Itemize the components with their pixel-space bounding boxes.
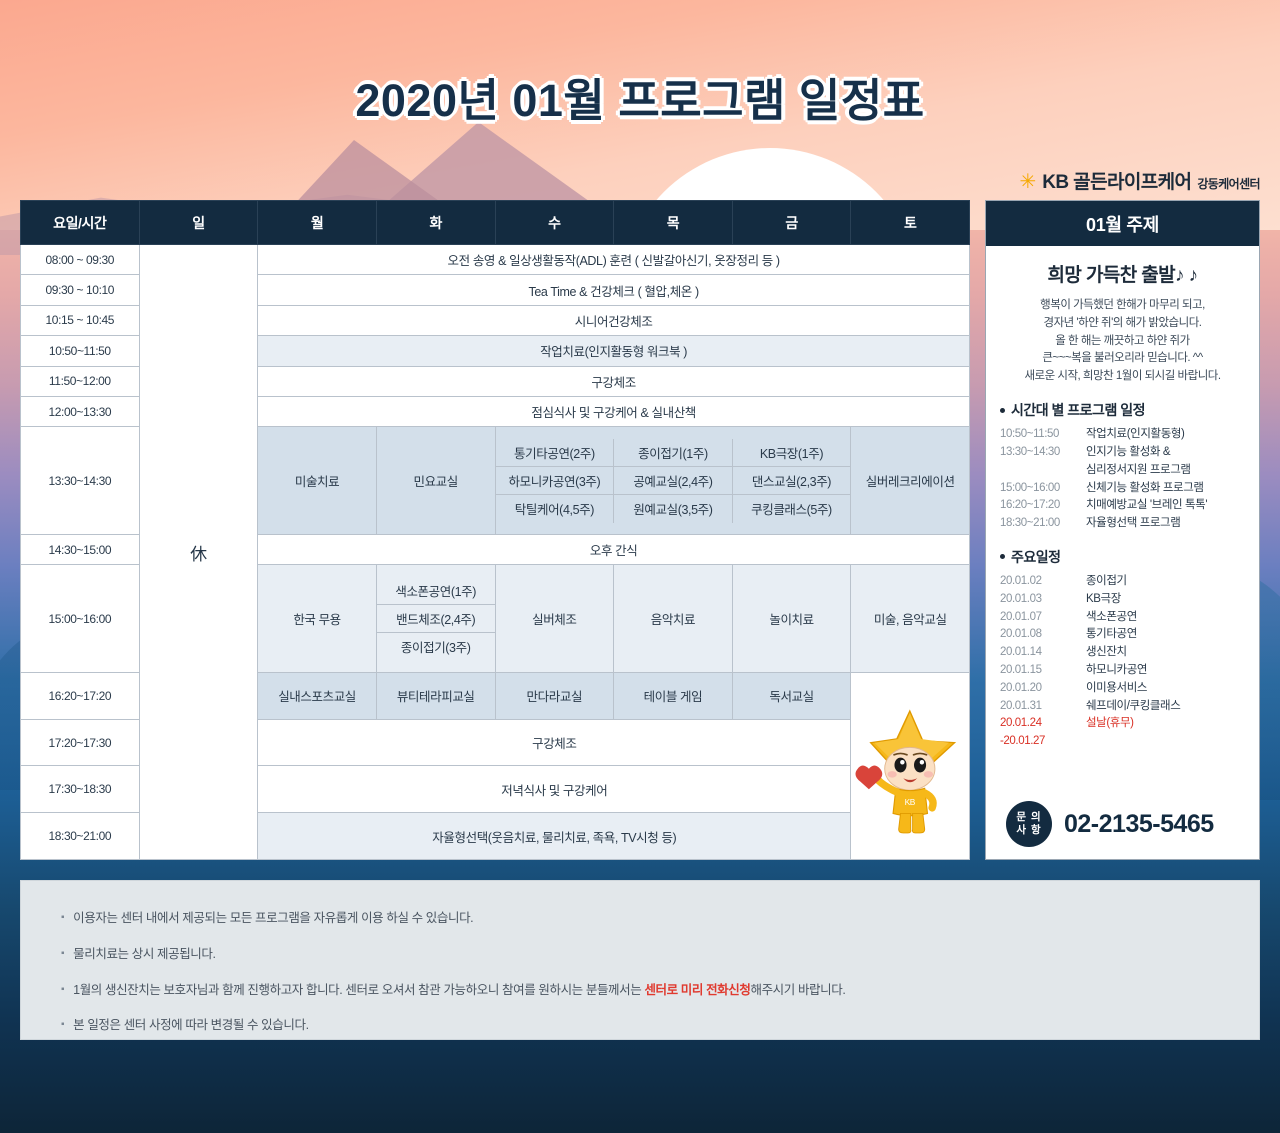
page-title: 2020년 01월 프로그램 일정표 xyxy=(0,64,1280,129)
theme-line: 경자년 '하얀 쥐'의 해가 밝았습니다. xyxy=(1000,315,1245,333)
event-date: 20.01.07 xyxy=(1000,609,1086,627)
program-cell: 만다라교실 xyxy=(495,673,614,720)
program-cell: 댄스교실(2,3주) xyxy=(732,467,850,495)
bullet-icon xyxy=(1000,408,1005,413)
rest-cell: 休 xyxy=(139,245,258,860)
note-item: ▪ 물리치료는 상시 제공됩니다. xyxy=(61,945,1219,964)
program-label: 자율형선택 프로그램 xyxy=(1086,515,1180,533)
subgrid-row: 밴드체조(2,4주) xyxy=(377,605,495,633)
note-highlight: 센터로 미리 전화신청 xyxy=(644,983,750,997)
time-label: 12:00~13:30 xyxy=(21,396,140,426)
list-item-holiday: -20.01.27 xyxy=(1000,733,1245,751)
theme-line: 새로운 시작, 희망찬 1월이 되시길 바랍니다. xyxy=(1000,368,1245,386)
program-cell: 공예교실(2,4주) xyxy=(614,467,732,495)
event-name: 이미용서비스 xyxy=(1086,680,1147,698)
program-cell: 탁틸케어(4,5주) xyxy=(496,495,614,523)
time-label: 18:30~21:00 xyxy=(21,813,140,860)
program-cell-sat: 미술, 음악교실 xyxy=(851,565,970,673)
program-cell: 색소폰공연(1주) xyxy=(377,577,495,605)
brand-name: KB 골든라이프케어 xyxy=(1042,167,1191,194)
section-title-label: 주요일정 xyxy=(1011,547,1061,567)
table-header: 요일/시간 일 월 화 수 목 금 토 xyxy=(21,201,970,245)
list-item: 20.01.08 통기타공연 xyxy=(1000,626,1245,644)
event-name: 종이접기 xyxy=(1086,573,1127,591)
time-label: 16:20~17:20 xyxy=(21,673,140,720)
section-title-time: 시간대 별 프로그램 일정 xyxy=(1000,400,1245,420)
program-cell-wed: 실버체조 xyxy=(495,565,614,673)
monthly-theme-sidebar: 01월 주제 희망 가득찬 출발♪ ♪ 행복이 가득했던 한해가 마무리 되고,… xyxy=(985,200,1260,860)
program-cell: 저녁식사 및 구강케어 xyxy=(258,766,851,813)
list-item: 20.01.15 하모니카공연 xyxy=(1000,662,1245,680)
event-name: 통기타공연 xyxy=(1086,626,1137,644)
program-cell: 종이접기(1주) xyxy=(614,439,732,467)
time-label: 08:00 ~ 09:30 xyxy=(21,245,140,275)
program-cell: 구강체조 xyxy=(258,719,851,766)
time-label: 09:30 ~ 10:10 xyxy=(21,275,140,305)
program-cell: 점심식사 및 구강케어 & 실내산책 xyxy=(258,396,970,426)
bullet-icon xyxy=(1000,554,1005,559)
note-item: ▪ 이용자는 센터 내에서 제공되는 모든 프로그램을 자유롭게 이용 하실 수… xyxy=(61,909,1219,928)
theme-line: 행복이 가득했던 한해가 마무리 되고, xyxy=(1000,297,1245,315)
header-sat: 토 xyxy=(851,201,970,245)
time-label: 17:30~18:30 xyxy=(21,766,140,813)
program-label: 작업치료(인지활동형) xyxy=(1086,426,1184,444)
sidebar-body: 희망 가득찬 출발♪ ♪ 행복이 가득했던 한해가 마무리 되고, 경자년 '하… xyxy=(986,246,1259,859)
bullet-icon: ▪ xyxy=(61,1016,64,1035)
program-cell: 원예교실(3,5주) xyxy=(614,495,732,523)
time-label: 17:20~17:30 xyxy=(21,719,140,766)
header-thu: 목 xyxy=(614,201,733,245)
program-cell: 뷰티테라피교실 xyxy=(376,673,495,720)
program-label: 심리정서지원 프로그램 xyxy=(1086,462,1191,480)
time-label: 13:30~14:30 xyxy=(1000,444,1086,462)
program-cell: 오전 송영 & 일상생활동작(ADL) 훈련 ( 신발갈아신기, 옷장정리 등 … xyxy=(258,245,970,275)
list-item: 20.01.02 종이접기 xyxy=(1000,573,1245,591)
list-item: 20.01.07 색소폰공연 xyxy=(1000,609,1245,627)
program-cell: 밴드체조(2,4주) xyxy=(377,605,495,633)
note-item: ▪ 1월의 생신잔치는 보호자님과 함께 진행하고자 합니다. 센터로 오셔서 … xyxy=(61,981,1219,1000)
mascot-svg: KB xyxy=(854,675,966,857)
list-item: 15:00~16:00 신체기능 활성화 프로그램 xyxy=(1000,480,1245,498)
program-cell-tue: 민요교실 xyxy=(376,427,495,535)
subgrid-row: 통기타공연(2주) 종이접기(1주) KB극장(1주) xyxy=(496,439,851,467)
subgrid-row: 색소폰공연(1주) xyxy=(377,577,495,605)
list-item: 18:30~21:00 자율형선택 프로그램 xyxy=(1000,515,1245,533)
program-cell: KB극장(1주) xyxy=(732,439,850,467)
event-date: -20.01.27 xyxy=(1000,733,1086,751)
program-cell: 통기타공연(2주) xyxy=(496,439,614,467)
list-item-holiday: 20.01.24 설날(휴무) xyxy=(1000,715,1245,733)
inquiry-badge: 문 의 사 항 xyxy=(1006,801,1052,847)
list-item: 20.01.14 생신잔치 xyxy=(1000,644,1245,662)
footer-notes: ▪ 이용자는 센터 내에서 제공되는 모든 프로그램을 자유롭게 이용 하실 수… xyxy=(20,880,1260,1040)
note-item: ▪ 본 일정은 센터 사정에 따라 변경될 수 있습니다. xyxy=(61,1016,1219,1035)
list-item: 20.01.03 KB극장 xyxy=(1000,591,1245,609)
subgrid-table: 색소폰공연(1주) 밴드체조(2,4주) 종이접기(3주) xyxy=(377,577,495,661)
inquiry-badge-line1: 문 의 xyxy=(1016,811,1041,824)
event-name: 설날(휴무) xyxy=(1086,715,1134,733)
kb-star-mascot-icon: KB xyxy=(854,675,966,857)
time-label xyxy=(1000,462,1086,480)
program-cell-mon: 미술치료 xyxy=(258,427,377,535)
contact-block[interactable]: 문 의 사 항 02-2135-5465 xyxy=(1000,801,1245,847)
main-events-section: 주요일정 20.01.02 종이접기 20.01.03 KB극장 20.01.0… xyxy=(1000,547,1245,751)
event-date: 20.01.24 xyxy=(1000,715,1086,733)
event-name: 하모니카공연 xyxy=(1086,662,1147,680)
event-date: 20.01.31 xyxy=(1000,698,1086,716)
list-item: 20.01.20 이미용서비스 xyxy=(1000,680,1245,698)
event-name: 색소폰공연 xyxy=(1086,609,1137,627)
program-cell: 오후 간식 xyxy=(258,535,970,565)
note-text: 물리치료는 상시 제공됩니다. xyxy=(73,945,215,964)
event-date: 20.01.02 xyxy=(1000,573,1086,591)
event-date: 20.01.20 xyxy=(1000,680,1086,698)
bullet-icon: ▪ xyxy=(61,945,64,964)
bullet-icon: ▪ xyxy=(61,909,64,928)
theme-line: 큰~~~복을 불러오리라 믿습니다. ^^ xyxy=(1000,350,1245,368)
program-cell: 자율형선택(웃음치료, 물리치료, 족욕, TV시청 등) xyxy=(258,813,851,860)
program-cell: 하모니카공연(3주) xyxy=(496,467,614,495)
program-label: 신체기능 활성화 프로그램 xyxy=(1086,480,1204,498)
program-cell: 종이접기(3주) xyxy=(377,633,495,661)
program-cell: Tea Time & 건강체크 ( 혈압,체온 ) xyxy=(258,275,970,305)
program-schedule-table: 요일/시간 일 월 화 수 목 금 토 08:00 ~ 09:30 休 오전 송… xyxy=(20,200,970,860)
program-cell-mon: 한국 무용 xyxy=(258,565,377,673)
inquiry-badge-line2: 사 항 xyxy=(1016,824,1041,837)
event-date: 20.01.03 xyxy=(1000,591,1086,609)
time-program-section: 시간대 별 프로그램 일정 10:50~11:50 작업치료(인지활동형) 13… xyxy=(1000,400,1245,533)
time-label: 18:30~21:00 xyxy=(1000,515,1086,533)
time-label: 11:50~12:00 xyxy=(21,366,140,396)
program-cell-thu: 음악치료 xyxy=(614,565,733,673)
program-cell: 독서교실 xyxy=(732,673,851,720)
program-cell: 구강체조 xyxy=(258,366,970,396)
program-cell-fri: 놀이치료 xyxy=(732,565,851,673)
program-subgrid-tue: 색소폰공연(1주) 밴드체조(2,4주) 종이접기(3주) xyxy=(376,565,495,673)
list-item: 16:20~17:20 치매예방교실 '브레인 톡톡' xyxy=(1000,497,1245,515)
time-label: 14:30~15:00 xyxy=(21,535,140,565)
event-date: 20.01.14 xyxy=(1000,644,1086,662)
program-subgrid: 통기타공연(2주) 종이접기(1주) KB극장(1주) 하모니카공연(3주) 공… xyxy=(495,427,851,535)
section-title-label: 시간대 별 프로그램 일정 xyxy=(1011,400,1145,420)
table-header-row: 요일/시간 일 월 화 수 목 금 토 xyxy=(21,201,970,245)
time-label: 10:50~11:50 xyxy=(1000,426,1086,444)
list-item: 심리정서지원 프로그램 xyxy=(1000,462,1245,480)
table-row: 08:00 ~ 09:30 休 오전 송영 & 일상생활동작(ADL) 훈련 (… xyxy=(21,245,970,275)
program-cell: 실내스포츠교실 xyxy=(258,673,377,720)
bullet-icon: ▪ xyxy=(61,981,64,1000)
event-date: 20.01.08 xyxy=(1000,626,1086,644)
contact-phone-number[interactable]: 02-2135-5465 xyxy=(1064,810,1214,839)
time-label: 16:20~17:20 xyxy=(1000,497,1086,515)
header-sun: 일 xyxy=(139,201,258,245)
table-body: 08:00 ~ 09:30 休 오전 송영 & 일상생활동작(ADL) 훈련 (… xyxy=(21,245,970,860)
list-item: 13:30~14:30 인지기능 활성화 & xyxy=(1000,444,1245,462)
program-label: 인지기능 활성화 & xyxy=(1086,444,1170,462)
subgrid-table: 통기타공연(2주) 종이접기(1주) KB극장(1주) 하모니카공연(3주) 공… xyxy=(496,439,851,523)
event-date: 20.01.15 xyxy=(1000,662,1086,680)
kb-star-icon: ✳ xyxy=(1020,172,1037,192)
svg-text:KB: KB xyxy=(905,797,916,807)
event-name: KB극장 xyxy=(1086,591,1121,609)
time-label: 10:50~11:50 xyxy=(21,336,140,366)
program-cell: 시니어건강체조 xyxy=(258,305,970,335)
mascot-cell: KB xyxy=(851,673,970,860)
note-text: 이용자는 센터 내에서 제공되는 모든 프로그램을 자유롭게 이용 하실 수 있… xyxy=(73,909,473,928)
program-cell-sat: 실버레크리에이션 xyxy=(851,427,970,535)
program-cell: 쿠킹클래스(5주) xyxy=(732,495,850,523)
program-label: 치매예방교실 '브레인 톡톡' xyxy=(1086,497,1207,515)
theme-line: 올 한 해는 깨끗하고 하얀 쥐가 xyxy=(1000,333,1245,351)
theme-title: 희망 가득찬 출발♪ ♪ xyxy=(1000,260,1245,287)
list-item: 20.01.31 쉐프데이/쿠킹클래스 xyxy=(1000,698,1245,716)
time-label: 10:15 ~ 10:45 xyxy=(21,305,140,335)
section-title-main: 주요일정 xyxy=(1000,547,1245,567)
note-text: 본 일정은 센터 사정에 따라 변경될 수 있습니다. xyxy=(73,1016,308,1035)
time-label: 15:00~16:00 xyxy=(21,565,140,673)
subgrid-row: 종이접기(3주) xyxy=(377,633,495,661)
header-wed: 수 xyxy=(495,201,614,245)
program-cell: 테이블 게임 xyxy=(614,673,733,720)
time-label: 15:00~16:00 xyxy=(1000,480,1086,498)
time-label: 13:30~14:30 xyxy=(21,427,140,535)
header-fri: 금 xyxy=(732,201,851,245)
brand-logo: ✳ KB 골든라이프케어 강동케어센터 xyxy=(1020,167,1261,194)
subgrid-row: 하모니카공연(3주) 공예교실(2,4주) 댄스교실(2,3주) xyxy=(496,467,851,495)
theme-description: 행복이 가득했던 한해가 마무리 되고, 경자년 '하얀 쥐'의 해가 밝았습니… xyxy=(1000,297,1245,386)
subgrid-row: 탁틸케어(4,5주) 원예교실(3,5주) 쿠킹클래스(5주) xyxy=(496,495,851,523)
note-text: 1월의 생신잔치는 보호자님과 함께 진행하고자 합니다. 센터로 오셔서 참관… xyxy=(73,981,845,1000)
header-tue: 화 xyxy=(376,201,495,245)
event-name: 쉐프데이/쿠킹클래스 xyxy=(1086,698,1180,716)
brand-sub: 강동케어센터 xyxy=(1197,175,1260,192)
header-daytime: 요일/시간 xyxy=(21,201,140,245)
program-cell: 작업치료(인지활동형 워크북 ) xyxy=(258,336,970,366)
event-name: 생신잔치 xyxy=(1086,644,1127,662)
header-mon: 월 xyxy=(258,201,377,245)
list-item: 10:50~11:50 작업치료(인지활동형) xyxy=(1000,426,1245,444)
sidebar-header: 01월 주제 xyxy=(986,201,1259,246)
